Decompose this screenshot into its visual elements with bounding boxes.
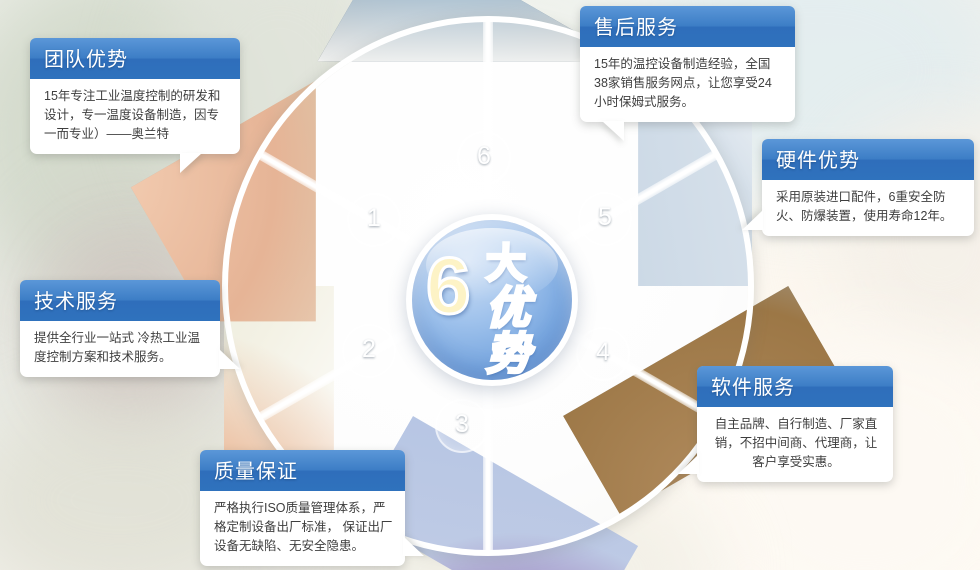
callout-after-sales-service[interactable]: 售后服务 15年的温控设备制造经验，全国38家销售服务网点，让您享受24小时保姆… bbox=[580, 6, 795, 122]
callout-body: 自主品牌、自行制造、厂家直销，不招中间商、代理商，让客户享受实惠。 bbox=[697, 407, 893, 482]
callout-tail bbox=[742, 210, 763, 230]
segment-number-6[interactable]: 6 bbox=[457, 131, 511, 185]
center-badge-big-char: 大 bbox=[486, 244, 526, 284]
callout-tail bbox=[602, 121, 624, 141]
segment-number-3[interactable]: 3 bbox=[435, 399, 489, 453]
segment-number-4[interactable]: 4 bbox=[576, 327, 630, 381]
callout-body: 采用原装进口配件，6重安全防火、防爆装置，使用寿命12年。 bbox=[762, 180, 974, 236]
segment-number-5[interactable]: 5 bbox=[578, 192, 632, 246]
callout-tail bbox=[219, 349, 240, 369]
center-badge-number: 6 bbox=[426, 246, 471, 326]
poster-canvas: 1 2 3 4 5 6 6 大 优势 团队优势 15年专注工业温度控制的研发和设… bbox=[0, 0, 980, 570]
callout-software-service[interactable]: 软件服务 自主品牌、自行制造、厂家直销，不招中间商、代理商，让客户享受实惠。 bbox=[697, 366, 893, 482]
callout-title: 硬件优势 bbox=[762, 139, 974, 180]
center-badge-disc: 6 大 优势 bbox=[412, 220, 572, 380]
callout-body: 15年的温控设备制造经验，全国38家销售服务网点，让您享受24小时保姆式服务。 bbox=[580, 47, 795, 122]
callout-tail bbox=[678, 454, 699, 474]
segment-number-2[interactable]: 2 bbox=[342, 324, 396, 378]
callout-quality-assurance[interactable]: 质量保证 严格执行ISO质量管理体系，严格定制设备出厂标准， 保证出厂设备无缺陷… bbox=[200, 450, 405, 566]
callout-title: 技术服务 bbox=[20, 280, 220, 321]
callout-title: 质量保证 bbox=[200, 450, 405, 491]
callout-tail bbox=[180, 153, 202, 173]
callout-hardware-advantage[interactable]: 硬件优势 采用原装进口配件，6重安全防火、防爆装置，使用寿命12年。 bbox=[762, 139, 974, 236]
callout-body: 15年专注工业温度控制的研发和设计，专一温度设备制造，因专一而专业）——奥兰特 bbox=[30, 79, 240, 154]
callout-team-advantage[interactable]: 团队优势 15年专注工业温度控制的研发和设计，专一温度设备制造，因专一而专业）—… bbox=[30, 38, 240, 154]
callout-technical-service[interactable]: 技术服务 提供全行业一站式 冷热工业温度控制方案和技术服务。 bbox=[20, 280, 220, 377]
callout-title: 售后服务 bbox=[580, 6, 795, 47]
callout-title: 团队优势 bbox=[30, 38, 240, 79]
segment-number-1[interactable]: 1 bbox=[347, 193, 401, 247]
callout-tail bbox=[403, 536, 424, 556]
center-badge-script-text: 优势 bbox=[486, 286, 572, 378]
callout-title: 软件服务 bbox=[697, 366, 893, 407]
callout-body: 严格执行ISO质量管理体系，严格定制设备出厂标准， 保证出厂设备无缺陷、无安全隐… bbox=[200, 491, 405, 566]
callout-body: 提供全行业一站式 冷热工业温度控制方案和技术服务。 bbox=[20, 321, 220, 377]
center-badge[interactable]: 6 大 优势 bbox=[406, 214, 578, 386]
